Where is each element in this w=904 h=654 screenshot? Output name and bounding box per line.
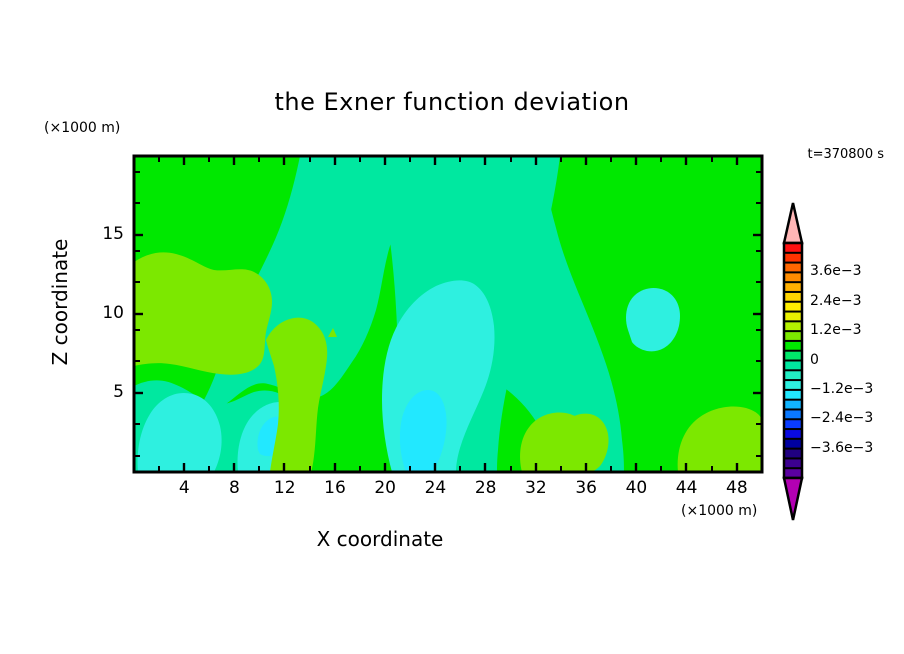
colorbar-tick-label: 3.6e−3: [810, 263, 862, 279]
x-tick-label: 44: [667, 478, 707, 498]
time-annotation: t=370800 s: [784, 147, 884, 162]
x-tick-label: 12: [265, 478, 305, 498]
x-tick-label: 32: [516, 478, 556, 498]
colorbar-under-arrow: [784, 478, 802, 520]
chart-title: the Exner function deviation: [0, 88, 904, 116]
x-tick-label: 36: [566, 478, 606, 498]
colorbar: [784, 203, 802, 520]
y-axis-label: Z coordinate: [48, 202, 72, 402]
colorbar-tick-label: −2.4e−3: [810, 410, 873, 426]
colorbar-over-arrow: [784, 203, 802, 243]
x-tick-label: 8: [214, 478, 254, 498]
y-tick-label: 5: [84, 382, 124, 402]
x-tick-label: 20: [365, 478, 405, 498]
colorbar-tick-label: −3.6e−3: [810, 440, 873, 456]
x-tick-label: 40: [616, 478, 656, 498]
colorbar-tick-label: 1.2e−3: [810, 322, 862, 338]
y-axis-unit-label: (×1000 m): [44, 120, 120, 136]
x-tick-label: 48: [717, 478, 757, 498]
x-axis-label: X coordinate: [0, 527, 760, 551]
y-tick-label: 15: [84, 224, 124, 244]
colorbar-tick-label: 0: [810, 352, 819, 368]
colorbar-tick-label: −1.2e−3: [810, 381, 873, 397]
x-tick-label: 16: [315, 478, 355, 498]
colorbar-tick-label: 2.4e−3: [810, 293, 862, 309]
colorbar-bands: [784, 243, 802, 479]
y-tick-label: 10: [84, 303, 124, 323]
x-axis-unit-label: (×1000 m): [681, 503, 757, 519]
x-tick-label: 24: [415, 478, 455, 498]
x-tick-label: 28: [466, 478, 506, 498]
x-tick-label: 4: [164, 478, 204, 498]
contour-region-pos1-right-b: [558, 414, 609, 472]
